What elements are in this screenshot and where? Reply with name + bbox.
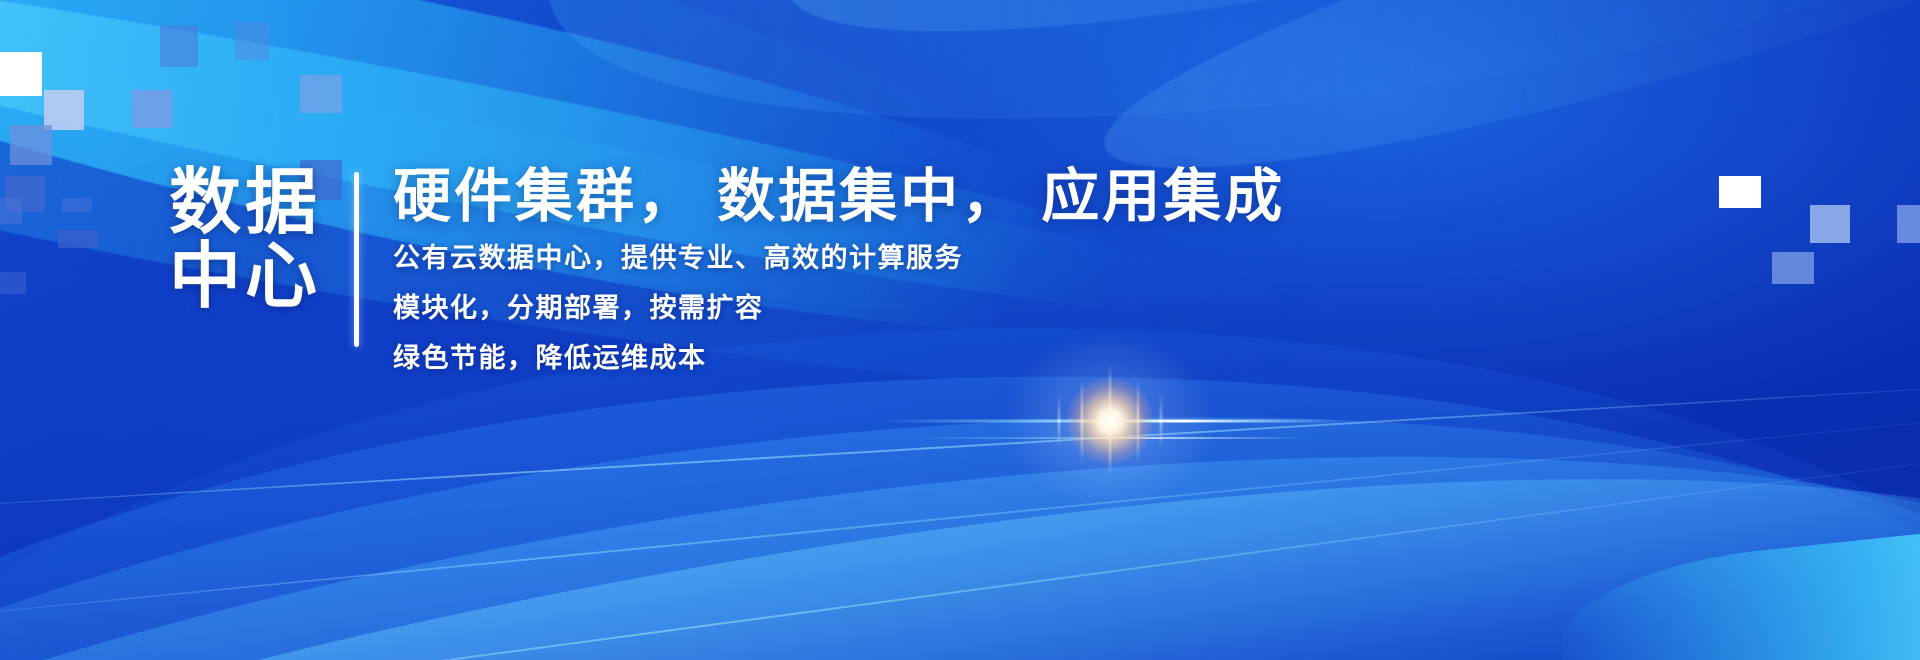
subline-3: 绿色节能，降低运维成本: [393, 344, 1285, 372]
banner-content: 数据 中心 硬件集群， 数据集中， 应用集成 公有云数据中心，提供专业、高效的计…: [150, 160, 1285, 372]
wave-edge-2: [0, 403, 1920, 639]
square-right-2: [1897, 205, 1920, 243]
flare-spike-5: [1159, 394, 1162, 448]
subline-2: 模块化，分期部署，按需扩容: [393, 294, 1285, 322]
square-left-edge-1: [0, 198, 22, 224]
wave-edge-1: [0, 378, 1920, 516]
square-row-6: [62, 198, 92, 212]
ribbon-band-6: [760, 0, 1920, 114]
square-row-1: [44, 90, 84, 130]
logo-title: 数据 中心: [150, 160, 340, 314]
square-right-3: [1772, 252, 1814, 284]
banner-root: 数据 中心 硬件集群， 数据集中， 应用集成 公有云数据中心，提供专业、高效的计…: [0, 0, 1920, 660]
text-block: 硬件集群， 数据集中， 应用集成 公有云数据中心，提供专业、高效的计算服务 模块…: [393, 160, 1285, 372]
lens-flare-icon: [880, 356, 1340, 486]
flare-streak-secondary: [908, 437, 1304, 439]
subline-1: 公有云数据中心，提供专业、高效的计算服务: [393, 244, 1285, 272]
headline: 硬件集群， 数据集中， 应用集成: [393, 164, 1285, 230]
flare-streak: [880, 420, 1340, 423]
square-right-white: [1719, 176, 1761, 208]
logo-title-line-2: 中心: [150, 240, 340, 314]
flare-spike-2: [1081, 379, 1084, 463]
flare-core: [1067, 378, 1153, 464]
square-top-3: [300, 75, 342, 113]
square-left-edge-2: [0, 272, 26, 294]
flare-spike-3: [1136, 379, 1139, 463]
square-row-2: [132, 90, 172, 128]
vertical-divider: [354, 172, 359, 347]
flare-spike-4: [1058, 394, 1061, 448]
square-top-1: [160, 25, 198, 67]
square-row-3: [10, 125, 52, 165]
square-right-1: [1810, 205, 1850, 243]
wave-edge-3: [0, 435, 1920, 660]
square-row-5: [58, 230, 98, 248]
logo-title-line-1: 数据: [150, 166, 340, 240]
square-top-2: [235, 22, 269, 60]
square-row-4: [5, 176, 45, 212]
square-white-left: [0, 52, 42, 96]
flare-spike-main: [1109, 365, 1112, 477]
cyan-sliver: [1553, 528, 1920, 660]
